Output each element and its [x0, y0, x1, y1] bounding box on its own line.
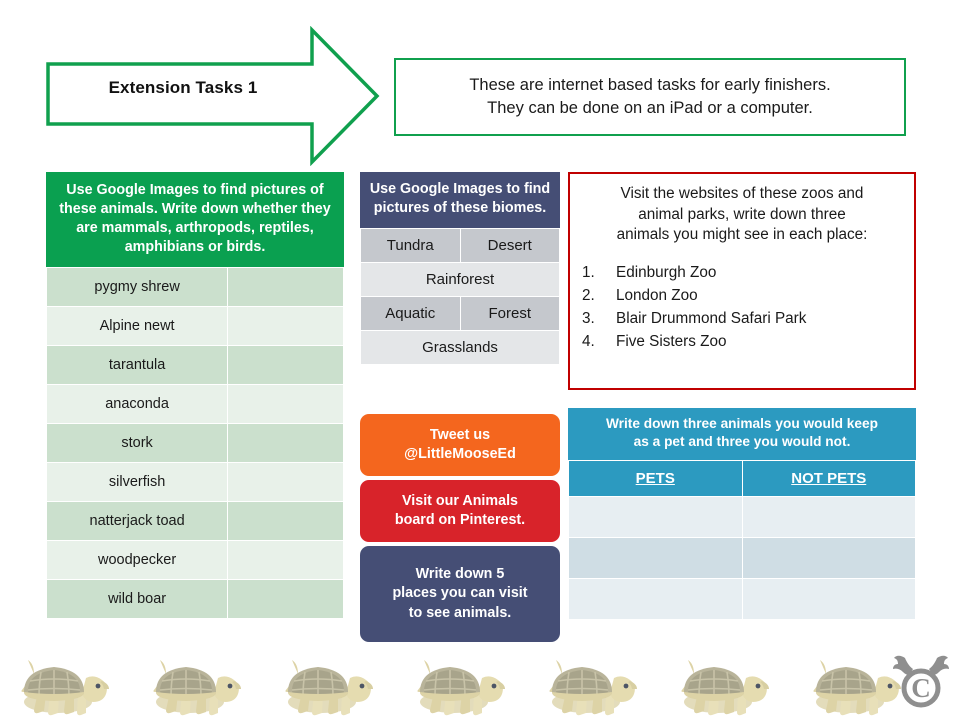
- tortoise-icon: [278, 648, 378, 720]
- pinterest-line-1: Visit our Animals: [395, 492, 525, 511]
- pets-column-header-label: PETS: [636, 470, 675, 487]
- tortoise-icon: [806, 648, 906, 720]
- table-row[interactable]: Rainforest: [361, 262, 560, 296]
- table-header-row: PETS NOT PETS: [569, 460, 916, 496]
- table-row[interactable]: anaconda: [47, 385, 344, 424]
- pinterest-cta-button[interactable]: Visit our Animals board on Pinterest.: [360, 480, 560, 542]
- list-item[interactable]: 2. London Zoo: [582, 285, 902, 308]
- biome-cell[interactable]: Desert: [460, 228, 560, 262]
- not-pets-answer-cell[interactable]: [742, 496, 916, 537]
- tortoise-icon: [14, 648, 114, 720]
- slide-canvas: Extension Tasks 1 These are internet bas…: [0, 0, 960, 720]
- table-row[interactable]: wild boar: [47, 580, 344, 619]
- pets-heading-line-1: Write down three animals you would keep: [578, 415, 906, 433]
- biome-cell[interactable]: Tundra: [361, 228, 461, 262]
- animal-answer-cell[interactable]: [228, 502, 344, 541]
- zoos-intro-line-1: Visit the websites of these zoos and: [582, 184, 902, 205]
- table-row[interactable]: tarantula: [47, 346, 344, 385]
- list-item[interactable]: 1. Edinburgh Zoo: [582, 262, 902, 285]
- zoo-number: 3.: [582, 308, 616, 331]
- not-pets-answer-cell[interactable]: [742, 578, 916, 619]
- animal-name-cell: Alpine newt: [47, 307, 228, 346]
- table-row[interactable]: pygmy shrew: [47, 268, 344, 307]
- zoos-task-panel: Visit the websites of these zoos and ani…: [568, 172, 916, 390]
- pets-heading-line-2: as a pet and three you would not.: [578, 433, 906, 451]
- tweet-line-2: @LittleMooseEd: [404, 445, 516, 464]
- not-pets-column-header-label: NOT PETS: [791, 470, 866, 487]
- pinterest-cta-text: Visit our Animals board on Pinterest.: [395, 492, 525, 531]
- places-line-1: Write down 5: [392, 565, 527, 584]
- biome-cell[interactable]: Aquatic: [361, 296, 461, 330]
- pets-table: PETS NOT PETS: [568, 460, 916, 620]
- animals-table: pygmy shrew Alpine newt tarantula anacon…: [46, 267, 344, 619]
- zoos-intro-line-3: animals you might see in each place:: [582, 225, 902, 246]
- zoo-name: London Zoo: [616, 285, 902, 308]
- tweet-cta-text: Tweet us @LittleMooseEd: [404, 426, 516, 465]
- animals-task-heading: Use Google Images to find pictures of th…: [46, 172, 344, 267]
- animal-name-cell: pygmy shrew: [47, 268, 228, 307]
- tortoise-icon: [674, 648, 774, 720]
- table-row[interactable]: Alpine newt: [47, 307, 344, 346]
- svg-text:C: C: [911, 673, 931, 703]
- zoos-intro-line-2: animal parks, write down three: [582, 205, 902, 226]
- animal-name-cell: woodpecker: [47, 541, 228, 580]
- table-row[interactable]: silverfish: [47, 463, 344, 502]
- animals-task-panel: Use Google Images to find pictures of th…: [46, 172, 344, 619]
- zoo-number: 1.: [582, 262, 616, 285]
- zoo-name: Five Sisters Zoo: [616, 331, 902, 354]
- places-task-text: Write down 5 places you can visit to see…: [392, 565, 527, 623]
- intro-box: These are internet based tasks for early…: [394, 58, 906, 136]
- tortoise-decoration-strip: [0, 648, 960, 720]
- tortoise-icon: [410, 648, 510, 720]
- tortoise-icon: [806, 648, 906, 720]
- tortoise-icon: [542, 648, 642, 720]
- animal-answer-cell[interactable]: [228, 541, 344, 580]
- animal-name-cell: anaconda: [47, 385, 228, 424]
- pinterest-line-2: board on Pinterest.: [395, 511, 525, 530]
- biomes-table: Tundra Desert Rainforest Aquatic Forest …: [360, 228, 560, 365]
- tortoise-icon: [278, 648, 378, 720]
- animal-answer-cell[interactable]: [228, 463, 344, 502]
- table-row[interactable]: Grasslands: [361, 330, 560, 364]
- biomes-task-heading: Use Google Images to find pictures of th…: [360, 172, 560, 228]
- list-item[interactable]: 3. Blair Drummond Safari Park: [582, 308, 902, 331]
- places-line-2: places you can visit: [392, 584, 527, 603]
- biome-cell[interactable]: Forest: [460, 296, 560, 330]
- pets-answer-cell[interactable]: [569, 537, 743, 578]
- biome-cell[interactable]: Grasslands: [361, 330, 560, 364]
- tortoise-icon: [146, 648, 246, 720]
- zoo-number: 2.: [582, 285, 616, 308]
- pets-task-panel: Write down three animals you would keep …: [568, 408, 916, 620]
- table-row[interactable]: Aquatic Forest: [361, 296, 560, 330]
- tortoise-icon: [542, 648, 642, 720]
- animal-name-cell: stork: [47, 424, 228, 463]
- pets-column-header: PETS: [569, 460, 743, 496]
- pets-task-heading: Write down three animals you would keep …: [568, 408, 916, 460]
- tortoise-icon: [146, 648, 246, 720]
- zoo-name: Blair Drummond Safari Park: [616, 308, 902, 331]
- table-row[interactable]: Tundra Desert: [361, 228, 560, 262]
- animal-answer-cell[interactable]: [228, 580, 344, 619]
- intro-line-2: They can be done on an iPad or a compute…: [469, 97, 830, 120]
- biomes-task-panel: Use Google Images to find pictures of th…: [360, 172, 560, 365]
- places-line-3: to see animals.: [392, 604, 527, 623]
- not-pets-answer-cell[interactable]: [742, 537, 916, 578]
- zoo-number: 4.: [582, 331, 616, 354]
- list-item[interactable]: 4. Five Sisters Zoo: [582, 331, 902, 354]
- animal-name-cell: natterjack toad: [47, 502, 228, 541]
- zoos-list: 1. Edinburgh Zoo 2. London Zoo 3. Blair …: [582, 262, 902, 354]
- table-row[interactable]: stork: [47, 424, 344, 463]
- intro-line-1: These are internet based tasks for early…: [469, 74, 830, 97]
- animal-answer-cell[interactable]: [228, 424, 344, 463]
- pets-answer-cell[interactable]: [569, 496, 743, 537]
- table-row[interactable]: woodpecker: [47, 541, 344, 580]
- animal-answer-cell[interactable]: [228, 385, 344, 424]
- animal-answer-cell[interactable]: [228, 346, 344, 385]
- table-row[interactable]: [569, 537, 916, 578]
- intro-text: These are internet based tasks for early…: [463, 74, 836, 120]
- tweet-line-1: Tweet us: [404, 426, 516, 445]
- animal-name-cell: silverfish: [47, 463, 228, 502]
- tortoise-icon: [410, 648, 510, 720]
- zoos-task-intro: Visit the websites of these zoos and ani…: [582, 184, 902, 246]
- table-row[interactable]: natterjack toad: [47, 502, 344, 541]
- places-task-box[interactable]: Write down 5 places you can visit to see…: [360, 546, 560, 642]
- biome-cell[interactable]: Rainforest: [361, 262, 560, 296]
- tweet-cta-button[interactable]: Tweet us @LittleMooseEd: [360, 414, 560, 476]
- zoo-name: Edinburgh Zoo: [616, 262, 902, 285]
- not-pets-column-header: NOT PETS: [742, 460, 916, 496]
- table-row[interactable]: [569, 578, 916, 619]
- moose-copyright-logo-icon: C: [892, 652, 950, 714]
- moose-logo-shape: C: [892, 652, 950, 714]
- animal-answer-cell[interactable]: [228, 307, 344, 346]
- animal-name-cell: wild boar: [47, 580, 228, 619]
- pets-answer-cell[interactable]: [569, 578, 743, 619]
- animal-answer-cell[interactable]: [228, 268, 344, 307]
- animal-name-cell: tarantula: [47, 346, 228, 385]
- tortoise-icon: [14, 648, 114, 720]
- page-title: Extension Tasks 1: [58, 78, 308, 98]
- tortoise-icon: [674, 648, 774, 720]
- table-row[interactable]: [569, 496, 916, 537]
